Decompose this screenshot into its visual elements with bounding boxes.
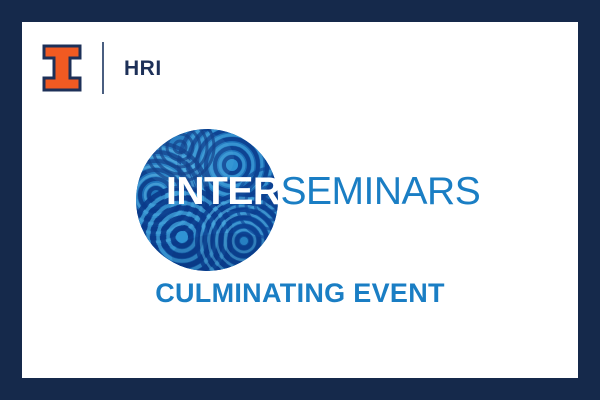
interseminars-logo: INTERSEMINARS bbox=[22, 108, 578, 268]
event-title: CULMINATING EVENT bbox=[22, 278, 578, 309]
brand-unit-label: HRI bbox=[124, 58, 162, 79]
brand-lockup: HRI bbox=[42, 40, 162, 96]
interseminars-wordmark: INTERSEMINARS bbox=[22, 170, 578, 214]
wordmark-inter: INTER bbox=[166, 170, 281, 213]
poster-frame: HRI bbox=[0, 0, 600, 400]
poster-canvas: HRI bbox=[22, 22, 578, 378]
wordmark-seminars: SEMINARS bbox=[281, 170, 481, 213]
illinois-block-i-icon bbox=[42, 44, 82, 92]
brand-divider bbox=[102, 42, 104, 94]
